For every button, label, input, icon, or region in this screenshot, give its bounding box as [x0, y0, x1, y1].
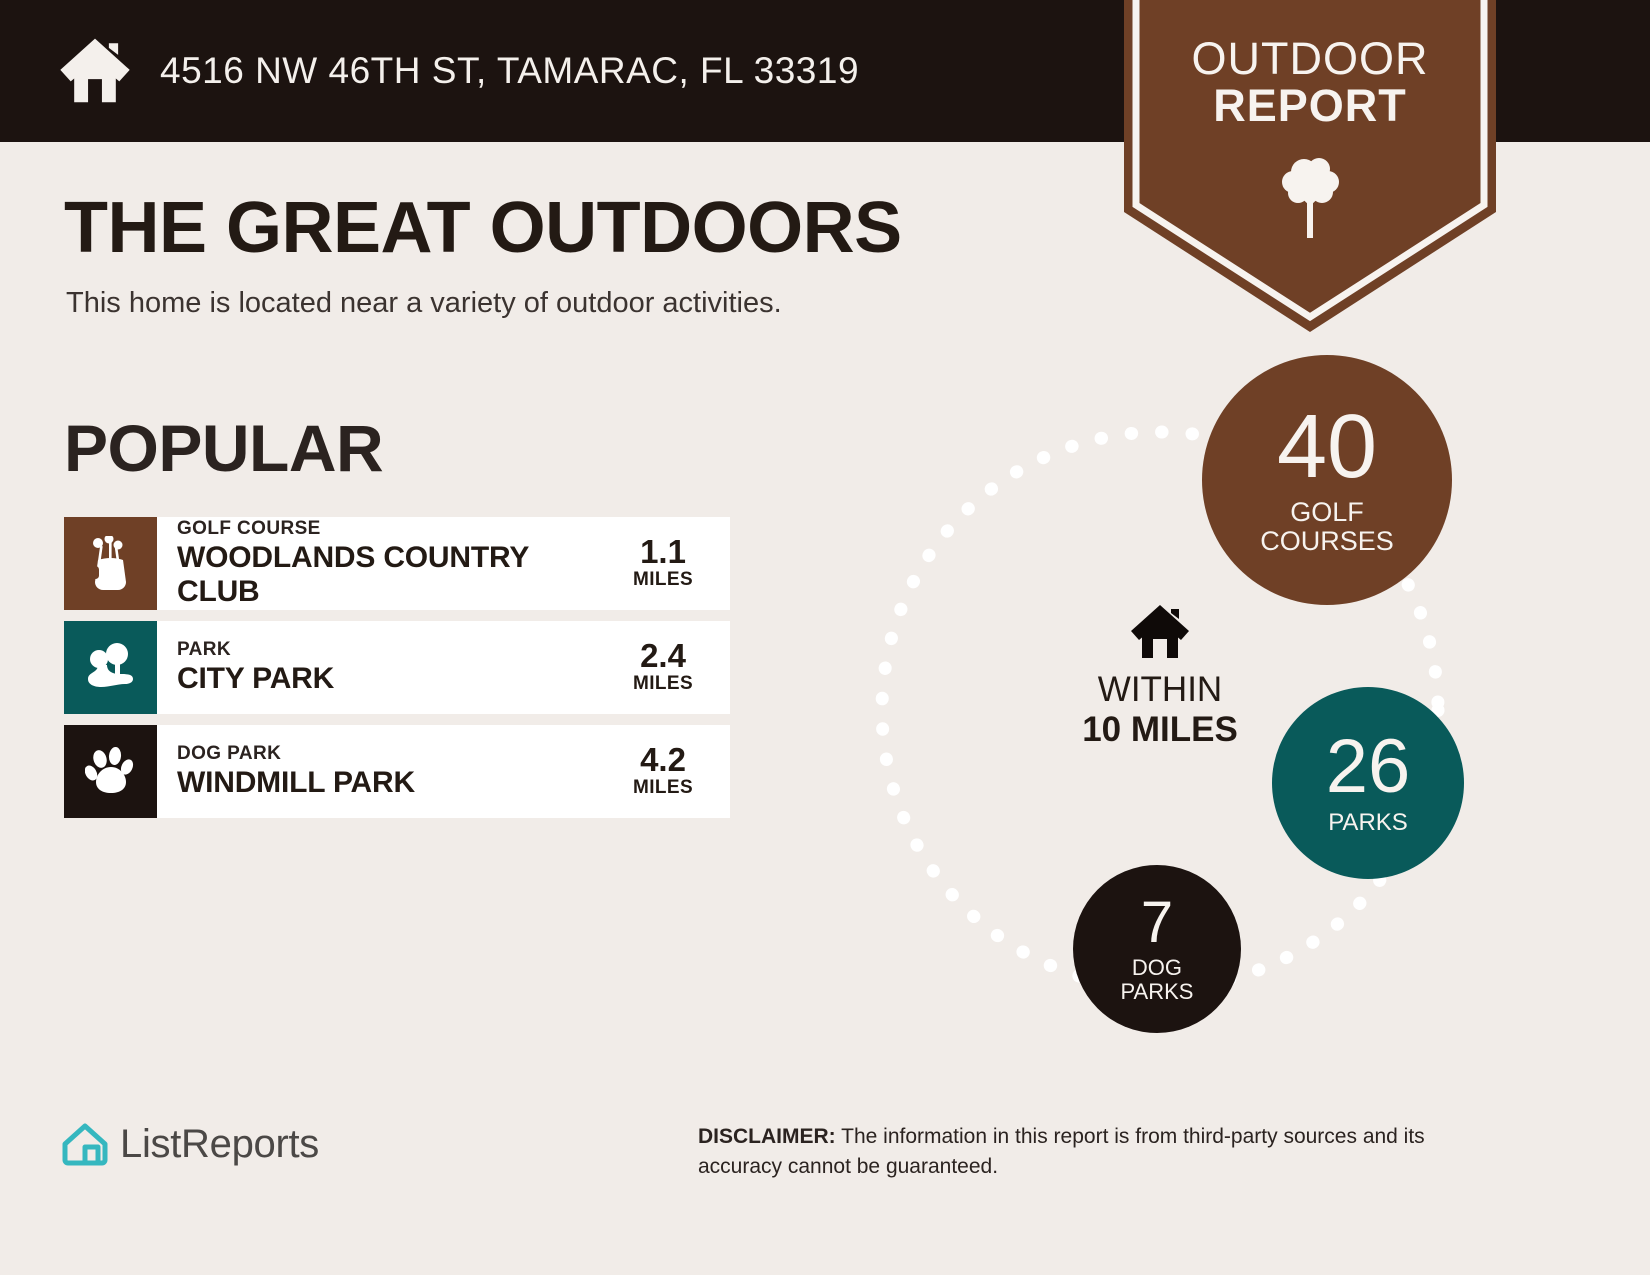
page-subtitle: This home is located near a variety of o…: [66, 287, 782, 320]
page-title: THE GREAT OUTDOORS: [64, 192, 902, 264]
list-item-distance: 2.4 MILES: [604, 621, 730, 714]
tree-icon: [1278, 154, 1342, 242]
stat-label: GOLF COURSES: [1260, 498, 1394, 555]
diagram-center-label: WITHIN 10 MILES: [1020, 603, 1300, 750]
list-item-text: GOLF COURSE WOODLANDS COUNTRY CLUB: [157, 517, 604, 610]
listreports-house-icon: [62, 1121, 108, 1167]
list-item-distance-value: 1.1: [640, 535, 686, 570]
list-item-category: GOLF COURSE: [177, 517, 604, 541]
list-item-distance-unit: MILES: [633, 777, 693, 800]
list-item-name: WINDMILL PARK: [177, 766, 604, 801]
list-item-distance: 4.2 MILES: [604, 725, 730, 818]
list-item[interactable]: GOLF COURSE WOODLANDS COUNTRY CLUB 1.1 M…: [64, 517, 730, 610]
list-item-name: CITY PARK: [177, 662, 604, 697]
diagram-center-line2: 10 MILES: [1020, 710, 1300, 750]
stat-label: DOG PARKS: [1121, 956, 1194, 1002]
list-item-category: PARK: [177, 638, 604, 662]
stat-circle-parks[interactable]: 26 PARKS: [1272, 687, 1464, 879]
listreports-logo[interactable]: ListReports: [62, 1121, 319, 1167]
disclaimer-label: DISCLAIMER:: [698, 1125, 836, 1148]
golf-bag-icon: [64, 517, 157, 610]
list-item-distance-unit: MILES: [633, 569, 693, 592]
list-item-text: PARK CITY PARK: [157, 621, 604, 714]
list-item-distance-value: 4.2: [640, 743, 686, 778]
home-icon: [58, 35, 132, 107]
paw-print-icon: [64, 725, 157, 818]
popular-heading: POPULAR: [64, 415, 383, 481]
park-tree-icon: [64, 621, 157, 714]
list-item-name: WOODLANDS COUNTRY CLUB: [177, 541, 604, 610]
disclaimer: DISCLAIMER: The information in this repo…: [698, 1122, 1508, 1182]
diagram-center-line1: WITHIN: [1020, 671, 1300, 710]
stat-label: PARKS: [1328, 810, 1408, 835]
popular-list: GOLF COURSE WOODLANDS COUNTRY CLUB 1.1 M…: [64, 517, 730, 829]
stat-circle-dog-parks[interactable]: 7 DOG PARKS: [1073, 865, 1241, 1033]
stat-circle-golf-courses[interactable]: 40 GOLF COURSES: [1202, 355, 1452, 605]
within-10-miles-diagram: WITHIN 10 MILES 40 GOLF COURSES 26 PARKS…: [830, 355, 1530, 1055]
outdoor-report-badge: OUTDOOR REPORT: [1124, 0, 1496, 332]
property-address: 4516 NW 46TH ST, TAMARAC, FL 33319: [160, 50, 859, 92]
stat-value: 40: [1277, 405, 1377, 491]
list-item-distance-value: 2.4: [640, 639, 686, 674]
list-item[interactable]: DOG PARK WINDMILL PARK 4.2 MILES: [64, 725, 730, 818]
list-item-category: DOG PARK: [177, 742, 604, 766]
list-item-distance-unit: MILES: [633, 673, 693, 696]
list-item-text: DOG PARK WINDMILL PARK: [157, 725, 604, 818]
stat-value: 7: [1141, 895, 1173, 950]
stat-value: 26: [1326, 731, 1411, 803]
list-item[interactable]: PARK CITY PARK 2.4 MILES: [64, 621, 730, 714]
listreports-logo-text: ListReports: [120, 1122, 319, 1167]
home-icon: [1129, 603, 1191, 661]
list-item-distance: 1.1 MILES: [604, 517, 730, 610]
